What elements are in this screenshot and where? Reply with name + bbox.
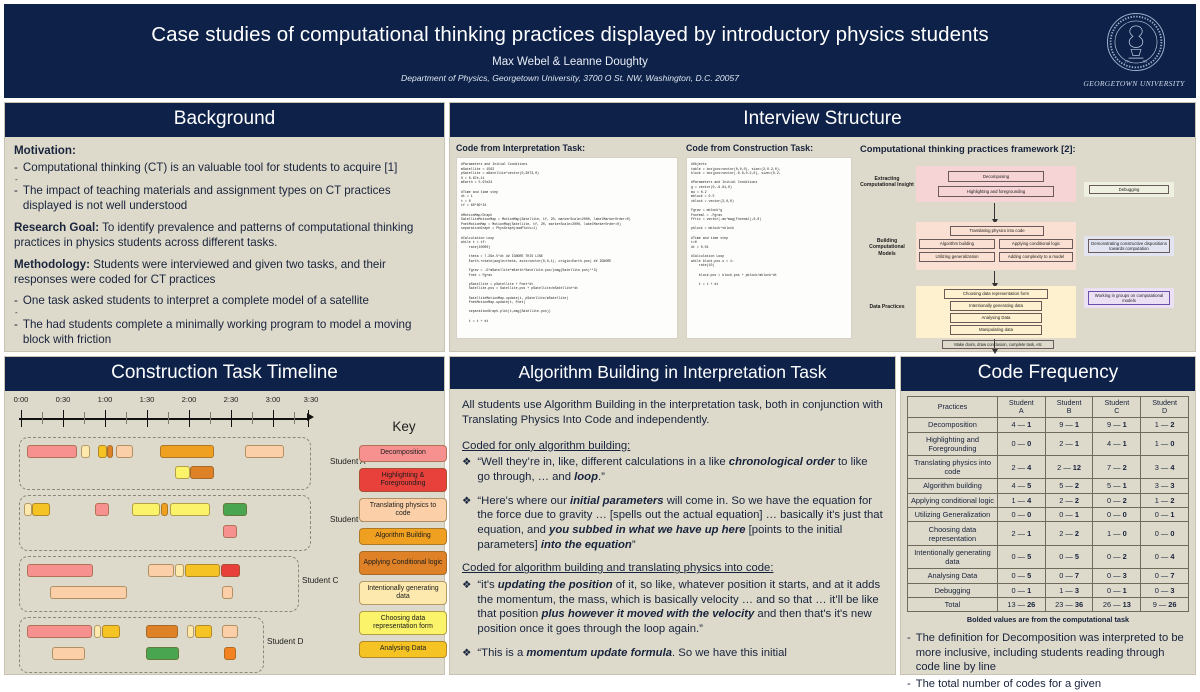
timeline-bar[interactable] xyxy=(190,466,214,479)
axis-tick-label: 3:30 xyxy=(304,395,319,404)
framework-item-manipulating-data[interactable]: Manipulating data xyxy=(950,325,1042,335)
frequency-notes: - The definition for Decomposition was i… xyxy=(907,631,1189,691)
legend-item-algorithm[interactable]: Algorithm Building xyxy=(359,528,447,545)
timeline-bar[interactable] xyxy=(222,586,233,599)
timeline-bar[interactable] xyxy=(195,625,212,638)
list-item-text: The impact of teaching materials and ass… xyxy=(23,184,435,214)
framework-item-conditional-logic[interactable]: Applying conditional logic xyxy=(999,239,1073,249)
cell-frequency: 0 — 1 xyxy=(1093,583,1141,597)
framework-side-wrap-debugging: Debugging xyxy=(1084,182,1174,197)
cell-frequency: 0 — 1 xyxy=(1141,508,1189,522)
legend-title: Key xyxy=(361,419,447,434)
cell-frequency: 4 — 5 xyxy=(997,479,1045,493)
panel-heading-algorithm: Algorithm Building in Interpretation Tas… xyxy=(450,357,895,389)
methodology-label: Methodology: xyxy=(14,258,90,271)
framework-row-label-data: Data Practices xyxy=(860,304,914,310)
cell-practice: Intentionally generating data xyxy=(908,545,998,568)
framework-item-analysing-data[interactable]: Analysing Data xyxy=(950,313,1042,323)
quote-item: ❖ “This is a momentum update formula. So… xyxy=(462,646,883,661)
framework-item-constructive-dispositions[interactable]: Demonstrating constructive dispositions … xyxy=(1088,239,1170,253)
cell-practice: Utilizing Generalization xyxy=(908,508,998,522)
framework-item-generating-data[interactable]: Intentionally generating data xyxy=(950,301,1042,311)
quote-text: “Well they’re in, like, different calcul… xyxy=(477,455,883,484)
cell-frequency: 7 — 2 xyxy=(1093,455,1141,478)
table-row: Highlighting and Foregrounding0 — 02 — 1… xyxy=(908,432,1189,455)
cell-frequency: 4 — 1 xyxy=(1093,432,1141,455)
axis-tick-label: 2:30 xyxy=(224,395,239,404)
bullet-dash: - xyxy=(15,178,435,183)
legend-item-decomposition[interactable]: Decomposition xyxy=(359,445,447,462)
timeline-row-student-d xyxy=(19,617,264,673)
interpretation-task-column: Code from Interpretation Task: #Paramete… xyxy=(456,141,678,344)
framework-item-highlighting[interactable]: Highlighting and foregrounding xyxy=(938,186,1054,197)
poster-root: Case studies of computational thinking p… xyxy=(0,0,1200,675)
cell-practice: Analysing Data xyxy=(908,569,998,583)
list-item-text: The definition for Decomposition was int… xyxy=(916,631,1189,675)
panel-heading-timeline: Construction Task Timeline xyxy=(5,357,444,391)
list-item: - One task asked students to interpret a… xyxy=(14,294,435,309)
cell-practice: Decomposition xyxy=(908,418,998,432)
construction-code-block: #Objects table = box(pos=vector(0,0,0), … xyxy=(686,157,852,339)
cell-frequency: 0 — 3 xyxy=(1141,583,1189,597)
cell-frequency: 0 — 5 xyxy=(1045,545,1093,568)
axis-tick-label: 0:30 xyxy=(56,395,71,404)
timeline-bar[interactable] xyxy=(27,625,92,638)
cell-frequency: 0 — 0 xyxy=(1093,508,1141,522)
legend-item-translating[interactable]: Translating physics to code xyxy=(359,498,447,522)
timeline-bar[interactable] xyxy=(98,445,107,458)
background-content: Motivation: - Computational thinking (CT… xyxy=(5,137,444,348)
cell-frequency: 0 — 2 xyxy=(1093,545,1141,568)
timeline-bar[interactable] xyxy=(24,503,32,516)
code-frequency-table: PracticesStudentAStudentBStudentCStudent… xyxy=(907,396,1189,612)
cell-frequency: 1 — 0 xyxy=(1141,432,1189,455)
framework-item-generalization[interactable]: Utilizing generalization xyxy=(919,252,995,262)
cell-frequency: 2 — 12 xyxy=(1045,455,1093,478)
quote-text: “This is a momentum update formula. So w… xyxy=(477,646,883,661)
quote-item: ❖ “Here's where our initial parameters w… xyxy=(462,494,883,553)
cell-frequency: 1 — 2 xyxy=(1141,493,1189,507)
list-item-text: The had students complete a minimally wo… xyxy=(23,318,435,348)
cell-frequency: 2 — 4 xyxy=(997,455,1045,478)
cell-frequency: 9 — 1 xyxy=(1045,418,1093,432)
timeline-row-student-b xyxy=(19,495,311,551)
framework-side-wrap-dispositions: Demonstrating constructive dispositions … xyxy=(1084,236,1174,256)
panel-heading-background: Background xyxy=(5,103,444,137)
framework-arrow-1 xyxy=(994,203,995,220)
algorithm-subheading-1: Coded for only algorithm building: xyxy=(462,439,883,454)
timeline-bar[interactable] xyxy=(94,625,101,638)
table-row: Applying conditional logic1 — 42 — 20 — … xyxy=(908,493,1189,507)
panel-algorithm-building: Algorithm Building in Interpretation Tas… xyxy=(449,356,896,675)
cell-frequency: 0 — 0 xyxy=(997,432,1045,455)
timeline-bar[interactable] xyxy=(245,445,284,458)
bullet-dash: - xyxy=(907,677,911,692)
cell-practice: Translating physics into code xyxy=(908,455,998,478)
table-row: Choosing data representation2 — 12 — 21 … xyxy=(908,522,1189,545)
bullet-dash: - xyxy=(14,318,18,348)
legend-item-analysing-data[interactable]: Analysing Data xyxy=(359,641,447,658)
axis-tick-label: 1:00 xyxy=(98,395,113,404)
framework-item-working-in-groups[interactable]: Working in groups on computational model… xyxy=(1088,291,1170,305)
timeline-bar[interactable] xyxy=(185,564,220,577)
table-row: Debugging0 — 11 — 30 — 10 — 3 xyxy=(908,583,1189,597)
cell-frequency: 26 — 13 xyxy=(1093,597,1141,611)
bullet-dash: - xyxy=(14,294,18,309)
timeline-bar[interactable] xyxy=(161,503,168,516)
framework-group-data: Choosing data representation form Intent… xyxy=(916,286,1076,338)
cell-frequency: 0 — 0 xyxy=(997,508,1045,522)
table-row: Translating physics into code2 — 42 — 12… xyxy=(908,455,1189,478)
university-name: GEORGETOWN UNIVERSITY xyxy=(1079,79,1189,88)
timeline-bar[interactable] xyxy=(146,647,179,660)
cell-frequency: 1 — 0 xyxy=(1093,522,1141,545)
author-list: Max Webel & Leanne Doughty xyxy=(65,56,1075,68)
timeline-bar[interactable] xyxy=(32,503,50,516)
timeline-bar[interactable] xyxy=(223,503,247,516)
research-goal: Research Goal: To identify prevalence an… xyxy=(14,221,435,251)
interpretation-code-block: #Parameters and Initial Conditions mSate… xyxy=(456,157,678,339)
framework-item-adding-complexity[interactable]: Adding complexity to a model xyxy=(999,252,1073,262)
legend-item-generating-data[interactable]: Intentionally generating data xyxy=(359,581,447,605)
quote-item: ❖ “Well they’re in, like, different calc… xyxy=(462,455,883,484)
cell-frequency: 5 — 1 xyxy=(1093,479,1141,493)
timeline-label-student-d: Student D xyxy=(267,637,303,646)
timeline-bar[interactable] xyxy=(52,647,85,660)
timeline-bar[interactable] xyxy=(160,445,214,458)
timeline-bar[interactable] xyxy=(116,445,133,458)
page-title: Case studies of computational thinking p… xyxy=(65,23,1075,47)
cell-practice: Highlighting and Foregrounding xyxy=(908,432,998,455)
research-goal-label: Research Goal: xyxy=(14,221,99,234)
framework-column: Computational thinking practices framewo… xyxy=(860,141,1189,344)
framework-title: Computational thinking practices framewo… xyxy=(860,143,1189,154)
cell-frequency: 1 — 2 xyxy=(1141,418,1189,432)
frequency-content: PracticesStudentAStudentBStudentCStudent… xyxy=(901,391,1195,692)
cell-frequency: 4 — 1 xyxy=(997,418,1045,432)
framework-item-debugging[interactable]: Debugging xyxy=(1089,185,1169,194)
list-item: - The impact of teaching materials and a… xyxy=(14,184,435,214)
col-header-student: StudentD xyxy=(1141,396,1189,417)
framework-item-translating-physics[interactable]: Translating physics into code xyxy=(950,226,1044,236)
axis-tick-label: 1:30 xyxy=(140,395,155,404)
timeline-bar[interactable] xyxy=(223,525,237,538)
list-item: - The total number of codes for a given xyxy=(907,677,1189,692)
table-row: Utilizing Generalization0 — 00 — 10 — 00… xyxy=(908,508,1189,522)
cell-frequency: 0 — 7 xyxy=(1141,569,1189,583)
timeline-bar[interactable] xyxy=(224,647,236,660)
timeline-bar[interactable] xyxy=(170,503,210,516)
algorithm-intro: All students use Algorithm Building in t… xyxy=(462,398,883,427)
panel-code-frequency: Code Frequency PracticesStudentAStudentB… xyxy=(900,356,1196,675)
bullet-dash: - xyxy=(14,161,18,176)
col-header-practices: Practices xyxy=(908,396,998,417)
table-row: Total13 — 2623 — 3626 — 139 — 26 xyxy=(908,597,1189,611)
cell-practice: Total xyxy=(908,597,998,611)
cell-frequency: 3 — 4 xyxy=(1141,455,1189,478)
panel-heading-frequency: Code Frequency xyxy=(901,357,1195,391)
cell-frequency: 0 — 0 xyxy=(1141,522,1189,545)
axis-tick-label: 3:00 xyxy=(266,395,281,404)
cell-frequency: 5 — 2 xyxy=(1045,479,1093,493)
timeline-bar[interactable] xyxy=(27,564,93,577)
cell-practice: Choosing data representation xyxy=(908,522,998,545)
interview-columns: Code from Interpretation Task: #Paramete… xyxy=(450,137,1195,344)
cell-frequency: 2 — 2 xyxy=(1045,522,1093,545)
cell-frequency: 2 — 1 xyxy=(1045,432,1093,455)
list-item: - Computational thinking (CT) is an valu… xyxy=(14,161,435,176)
svg-text:89: 89 xyxy=(1143,59,1147,64)
algorithm-subheading-2: Coded for algorithm building and transla… xyxy=(462,561,883,576)
cell-frequency: 0 — 7 xyxy=(1045,569,1093,583)
timeline-bar[interactable] xyxy=(50,586,127,599)
list-item: - The had students complete a minimally … xyxy=(14,318,435,348)
framework-side-wrap-groups: Working in groups on computational model… xyxy=(1084,288,1174,308)
cell-practice: Applying conditional logic xyxy=(908,493,998,507)
timeline-bar[interactable] xyxy=(102,625,120,638)
axis-tick-label: 0:00 xyxy=(14,395,29,404)
timeline-bar[interactable] xyxy=(107,445,113,458)
cell-frequency: 13 — 26 xyxy=(997,597,1045,611)
quote-text: “it's updating the position of it, so li… xyxy=(477,578,883,637)
framework-row-label-extracting: Extracting Computational Insight xyxy=(860,176,914,189)
framework-item-choosing-data[interactable]: Choosing data representation form xyxy=(944,289,1048,299)
table-footnote: Bolded values are from the computational… xyxy=(907,615,1189,624)
timeline-bar[interactable] xyxy=(146,625,178,638)
cell-frequency: 0 — 4 xyxy=(1141,545,1189,568)
ct-framework-diagram: Extracting Computational Insight Buildin… xyxy=(860,158,1189,344)
algorithm-content: All students use Algorithm Building in t… xyxy=(450,389,895,660)
framework-item-algorithm-building[interactable]: Algorithm building xyxy=(919,239,995,249)
georgetown-seal-icon: 17 89 xyxy=(1105,11,1167,73)
cell-frequency: 0 — 2 xyxy=(1093,493,1141,507)
table-row: Analysing Data0 — 50 — 70 — 30 — 7 xyxy=(908,569,1189,583)
timeline-row-student-a xyxy=(19,437,311,490)
panel-background: Background Motivation: - Computational t… xyxy=(4,102,445,352)
construction-task-column: Code from Construction Task: #Objects ta… xyxy=(686,141,852,344)
timeline-bar[interactable] xyxy=(81,445,90,458)
cell-frequency: 2 — 1 xyxy=(997,522,1045,545)
list-item: - The definition for Decomposition was i… xyxy=(907,631,1189,675)
legend-item-choosing-data[interactable]: Choosing data representation form xyxy=(359,611,447,635)
timeline-bar[interactable] xyxy=(221,564,240,577)
cell-frequency: 1 — 4 xyxy=(997,493,1045,507)
timeline-bar[interactable] xyxy=(187,625,194,638)
table-row: Intentionally generating data0 — 50 — 50… xyxy=(908,545,1189,568)
diamond-bullet-icon: ❖ xyxy=(462,646,471,661)
construction-task-title: Code from Construction Task: xyxy=(686,143,852,153)
axis-tick-label: 2:00 xyxy=(182,395,197,404)
timeline-bar[interactable] xyxy=(175,466,190,479)
timeline-bar[interactable] xyxy=(148,564,174,577)
diamond-bullet-icon: ❖ xyxy=(462,455,471,484)
table-header-row: PracticesStudentAStudentBStudentCStudent… xyxy=(908,396,1189,417)
framework-item-decomposing[interactable]: Decomposing xyxy=(948,171,1044,182)
cell-frequency: 0 — 5 xyxy=(997,545,1045,568)
diamond-bullet-icon: ❖ xyxy=(462,578,471,637)
timeline-bar[interactable] xyxy=(95,503,109,516)
cell-practice: Algorithm building xyxy=(908,479,998,493)
col-header-student: StudentA xyxy=(997,396,1045,417)
bullet-dash: - xyxy=(15,311,435,316)
table-row: Decomposition4 — 19 — 19 — 11 — 2 xyxy=(908,418,1189,432)
cell-frequency: 3 — 3 xyxy=(1141,479,1189,493)
poster-header: Case studies of computational thinking p… xyxy=(4,4,1196,98)
table-row: Algorithm building4 — 55 — 25 — 13 — 3 xyxy=(908,479,1189,493)
list-item-text: Computational thinking (CT) is an valuab… xyxy=(23,161,397,176)
cell-frequency: 9 — 26 xyxy=(1141,597,1189,611)
panel-heading-interview: Interview Structure xyxy=(450,103,1195,137)
cell-practice: Debugging xyxy=(908,583,998,597)
interpretation-task-title: Code from Interpretation Task: xyxy=(456,143,678,153)
framework-item-final-outcome[interactable]: Make claim, draw conclusion, complete ta… xyxy=(942,340,1054,349)
timeline-body: 0:00 0:30 1:00 1:30 2:00 2:30 3:00 3:30 xyxy=(5,391,444,674)
framework-row-label-building: Building Computational Models xyxy=(860,238,914,257)
timeline-bar[interactable] xyxy=(222,625,238,638)
cell-frequency: 1 — 3 xyxy=(1045,583,1093,597)
cell-frequency: 0 — 1 xyxy=(997,583,1045,597)
bullet-dash: - xyxy=(14,184,18,214)
cell-frequency: 0 — 3 xyxy=(1093,569,1141,583)
timeline-bar[interactable] xyxy=(27,445,77,458)
timeline-bar[interactable] xyxy=(132,503,160,516)
list-item-text: One task asked students to interpret a c… xyxy=(23,294,369,309)
cell-frequency: 0 — 5 xyxy=(997,569,1045,583)
framework-group-building: Translating physics into code Algorithm … xyxy=(916,222,1076,270)
list-item-text: The total number of codes for a given xyxy=(916,677,1101,692)
framework-arrow-2 xyxy=(994,271,995,284)
cell-frequency: 0 — 1 xyxy=(1045,508,1093,522)
panel-interview-structure: Interview Structure Code from Interpreta… xyxy=(449,102,1196,352)
col-header-student: StudentC xyxy=(1093,396,1141,417)
methodology: Methodology: Students were interviewed a… xyxy=(14,258,435,288)
cell-frequency: 9 — 1 xyxy=(1093,418,1141,432)
quote-item: ❖ “it's updating the position of it, so … xyxy=(462,578,883,637)
timeline-label-student-c: Student C xyxy=(302,576,338,585)
quote-text: “Here's where our initial parameters wil… xyxy=(477,494,883,553)
framework-group-extracting: Decomposing Highlighting and foregroundi… xyxy=(916,166,1076,202)
diamond-bullet-icon: ❖ xyxy=(462,494,471,553)
panel-construction-timeline: Construction Task Timeline 0:00 0:30 1:0… xyxy=(4,356,445,675)
legend-item-conditional[interactable]: Applying Conditional logic xyxy=(359,551,447,575)
col-header-student: StudentB xyxy=(1045,396,1093,417)
cell-frequency: 2 — 2 xyxy=(1045,493,1093,507)
timeline-bar[interactable] xyxy=(175,564,184,577)
affiliation: Department of Physics, Georgetown Univer… xyxy=(65,73,1075,83)
cell-frequency: 23 — 36 xyxy=(1045,597,1093,611)
bullet-dash: - xyxy=(907,631,911,675)
legend-item-highlighting[interactable]: Highlighting & Foregrounding xyxy=(359,468,447,492)
motivation-label: Motivation: xyxy=(14,144,435,159)
timeline-row-student-c xyxy=(19,556,299,612)
